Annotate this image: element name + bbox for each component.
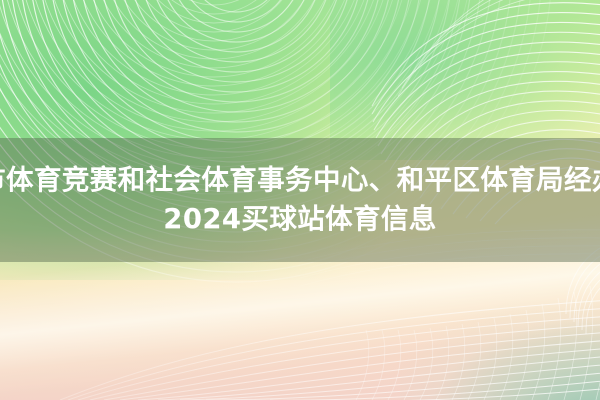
caption-line-2: 2024买球站体育信息	[163, 200, 436, 239]
background-green-glow-top-right	[330, 0, 600, 160]
banner-image: 市体育竞赛和社会体育事务中心、和平区体育局经办 2024买球站体育信息	[0, 0, 600, 400]
caption-band: 市体育竞赛和社会体育事务中心、和平区体育局经办 2024买球站体育信息	[0, 138, 600, 262]
caption-line-1: 市体育竞赛和社会体育事务中心、和平区体育局经办	[0, 161, 600, 200]
